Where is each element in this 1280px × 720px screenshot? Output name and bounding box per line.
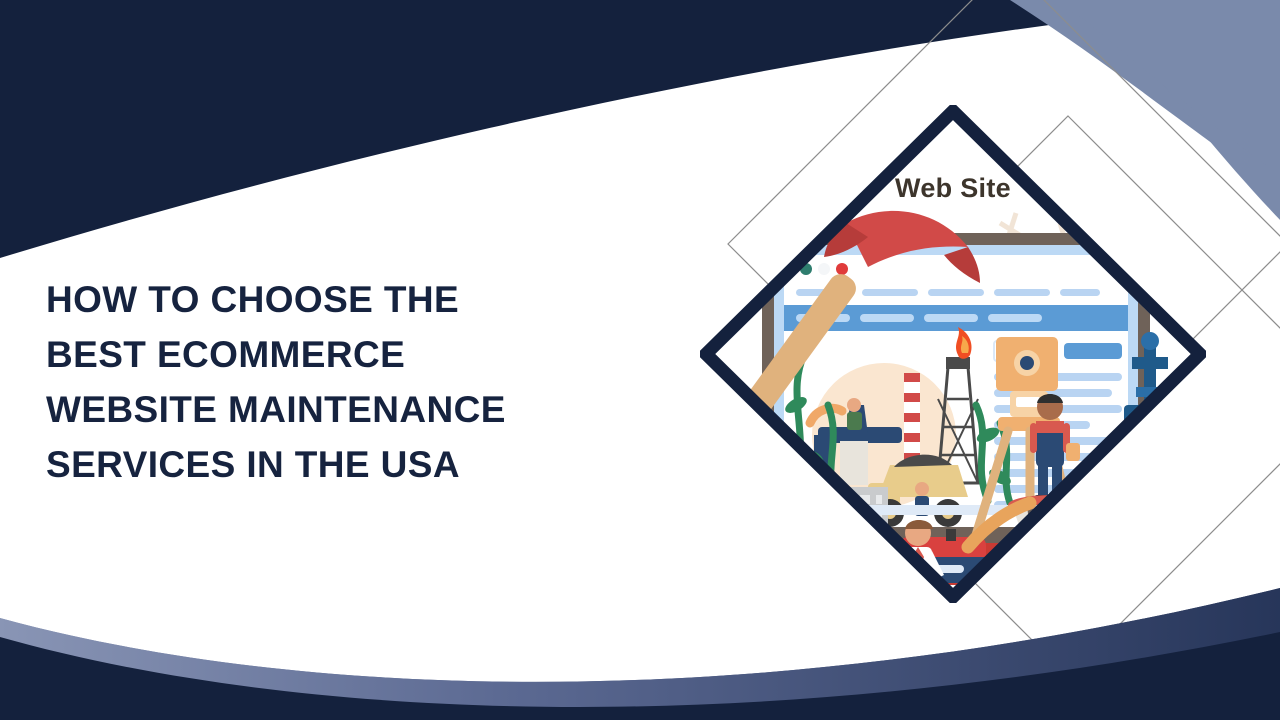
bottom-wave xyxy=(0,0,1280,720)
presentation-slide: Web Site HOW TO CHOOSE THE BEST ECOMMERC… xyxy=(0,0,1280,720)
